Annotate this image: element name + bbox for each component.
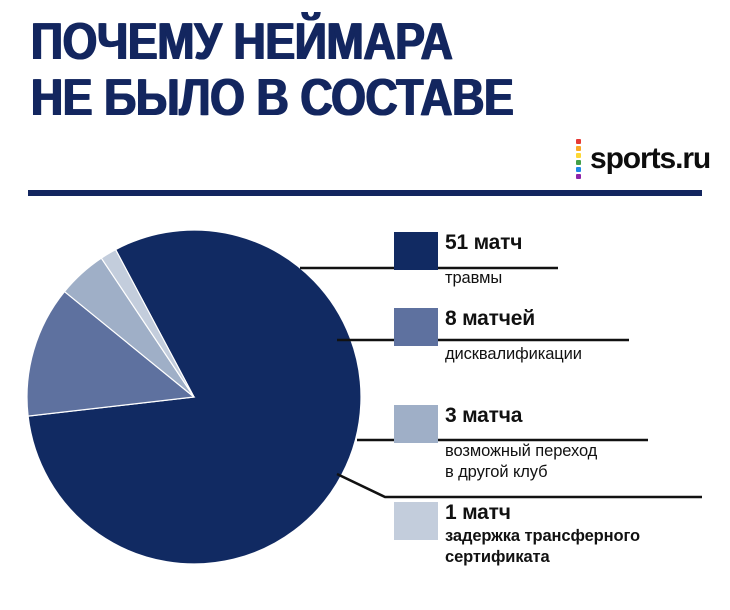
- logo-dots-icon: [576, 139, 581, 179]
- pie-chart: [26, 229, 362, 565]
- page-title: ПОЧЕМУ НЕЙМАРА НЕ БЫЛО В СОСТАВЕ: [30, 18, 570, 130]
- logo-dot-6: [576, 174, 581, 179]
- legend-desc-2: дисквалификации: [445, 344, 704, 364]
- legend-swatch-2: [394, 308, 438, 346]
- legend-desc-1: травмы: [445, 268, 704, 288]
- legend-body-2: 8 матчей дисквалификации: [445, 308, 704, 364]
- legend-count-1: 51 матч: [445, 232, 704, 254]
- legend-desc-3b: в другой клуб: [445, 462, 704, 482]
- legend-body-1: 51 матч травмы: [445, 232, 704, 288]
- legend-desc-3a: возможный переход: [445, 441, 704, 461]
- legend-count-4: 1 матч: [445, 502, 704, 524]
- legend-count-3: 3 матча: [445, 405, 704, 427]
- legend-body-4: 1 матч задержка трансферного сертификата: [445, 502, 704, 567]
- legend-swatch-4: [394, 502, 438, 540]
- pie-chart-svg: [26, 229, 362, 565]
- logo-dot-3: [576, 153, 581, 158]
- title-line-2: НЕ БЫЛО В СОСТАВЕ: [30, 74, 494, 124]
- header-divider: [28, 190, 702, 196]
- legend-desc-4a: задержка трансферного: [445, 526, 704, 546]
- legend-count-2: 8 матчей: [445, 308, 704, 330]
- logo-dot-4: [576, 160, 581, 165]
- sports-ru-logo[interactable]: sports.ru: [576, 139, 710, 179]
- logo-dot-2: [576, 146, 581, 151]
- title-line-1: ПОЧЕМУ НЕЙМАРА: [30, 18, 494, 68]
- legend-body-3: 3 матча возможный переход в другой клуб: [445, 405, 704, 482]
- logo-wordmark: sports.ru: [590, 144, 710, 174]
- legend-desc-4b: сертификата: [445, 547, 704, 567]
- logo-dot-5: [576, 167, 581, 172]
- legend-swatch-3: [394, 405, 438, 443]
- legend-swatch-1: [394, 232, 438, 270]
- logo-dot-1: [576, 139, 581, 144]
- infographic-page: ПОЧЕМУ НЕЙМАРА НЕ БЫЛО В СОСТАВЕ sports.…: [0, 0, 730, 610]
